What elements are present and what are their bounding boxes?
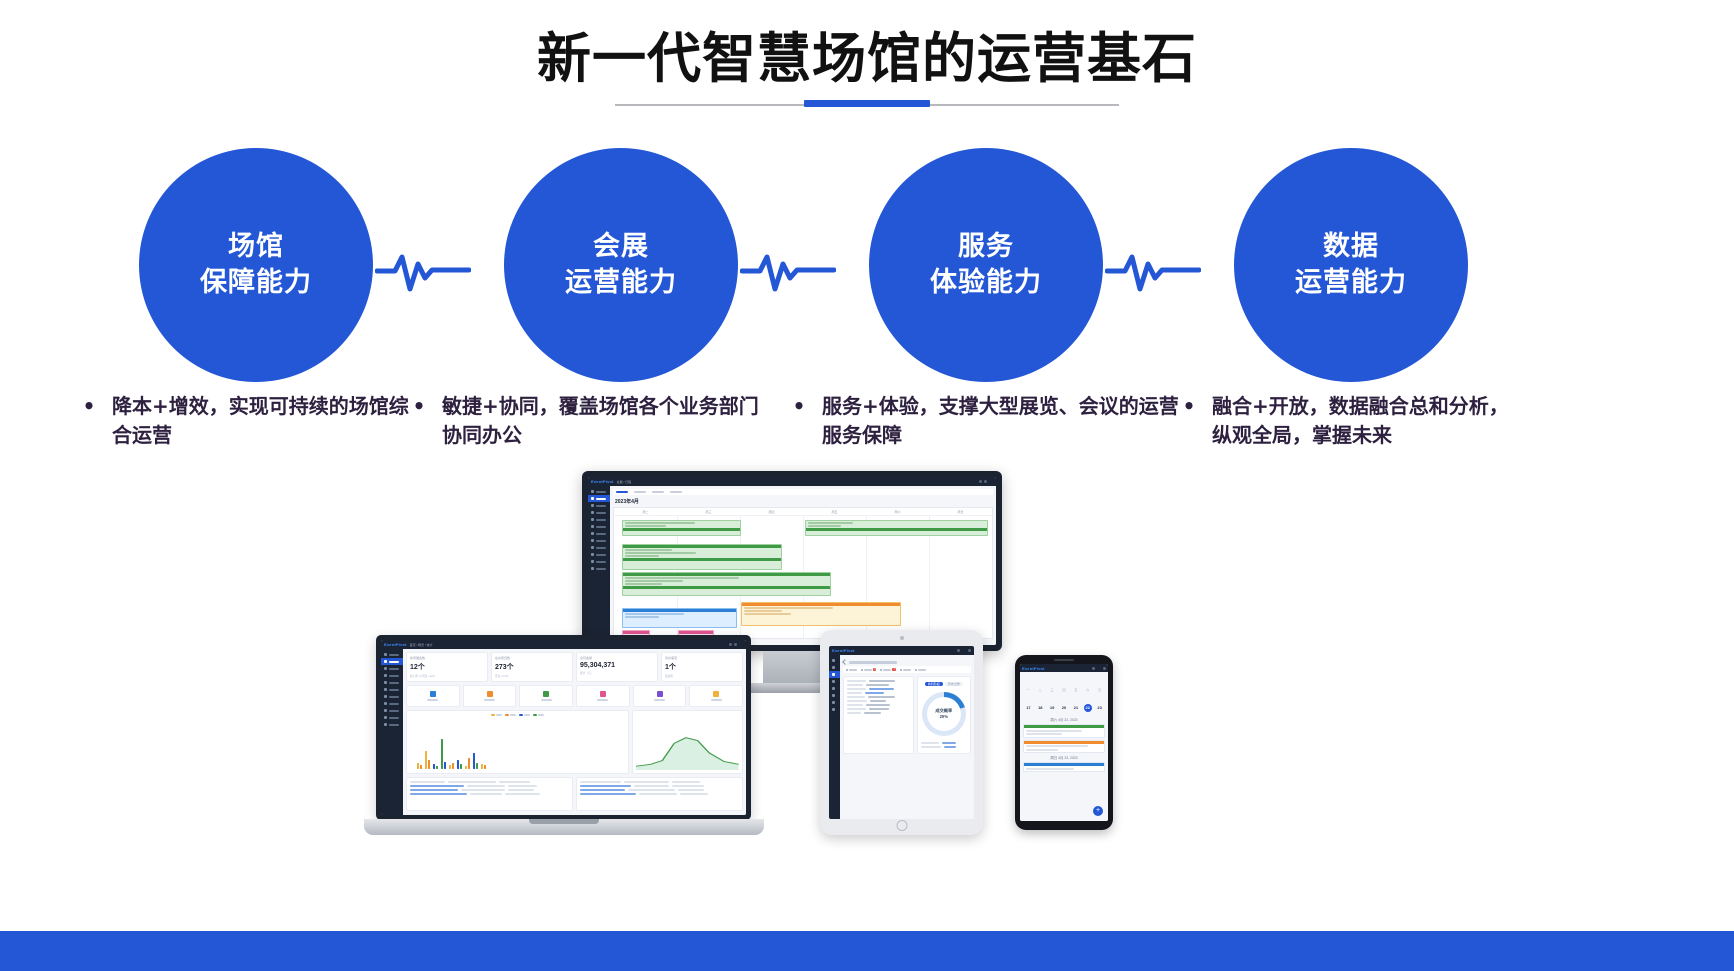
calendar-tabs [613,489,993,495]
weekday-cell: 周三 [677,508,740,515]
search-icon[interactable] [729,643,732,646]
sidebar-label [389,689,399,691]
add-event-fab[interactable]: + [1093,806,1103,816]
doc-icon [384,681,387,684]
calendar-event[interactable] [741,602,902,626]
calendar-event[interactable] [622,608,737,628]
laptop-screen: EventPivot 首页 / 概览 / 统计 [381,640,746,815]
sidebar-label [596,547,606,549]
laptop-bezel: EventPivot 首页 / 概览 / 统计 [376,635,751,820]
sidebar-label [389,724,399,726]
sidebar-item-system[interactable] [588,565,610,572]
sidebar-item-finance[interactable] [381,693,403,700]
bar-chart-bars [417,733,624,769]
back-chevron-icon[interactable] [842,659,848,665]
quick-tile-venues[interactable] [576,685,630,707]
monitor-app-topbar: EventPivot 会展 / 日程 [588,477,996,486]
kpi-sub: 较上周 +3 同比 +12% [410,674,484,678]
kpi-card[interactable]: 合同金额 95,304,371 累计（元） [576,652,658,682]
doc-icon [543,691,549,697]
weekday-cell: 周五 [803,508,866,515]
week-day-cell[interactable]: 二 18 [1035,678,1046,714]
sidebar-label [596,554,606,556]
list-card-row [406,777,743,811]
weekday-cell: 周日 [929,508,992,515]
doc-icon [591,525,594,528]
bullet-marker-icon: • [790,392,808,421]
bullet-item-4: • 融合+开放，数据融合总和分析，纵观全局，掌握未来 [1180,392,1510,450]
sidebar-item-workspace[interactable] [588,488,610,495]
laptop-trackpad-notch [529,819,599,824]
kpi-card[interactable]: 在办项目数 273个 环比 +1.2% [491,652,573,682]
tile-label [541,699,552,701]
sidebar-item-contracts[interactable] [381,679,403,686]
grid-icon [591,490,594,493]
kpi-label: 在办项目数 [495,656,569,660]
sidebar-label [596,568,606,570]
app-logo: EventPivot [1022,666,1045,671]
home-button-icon[interactable] [896,820,907,831]
money-icon [384,695,387,698]
legend-item [533,714,544,716]
weekday-label: 六 [1086,688,1089,692]
legend-item [491,714,502,716]
footer-bar [0,931,1734,971]
weekday-number: 17 [1026,705,1030,710]
sidebar-item-system[interactable] [829,706,840,713]
grid-icon [384,653,387,656]
contact-icon [591,518,594,521]
weekday-label: 日 [1098,688,1101,692]
tab-contracts[interactable] [900,668,911,671]
sidebar-item-schedule[interactable] [588,495,610,502]
capability-circle-1[interactable]: 场馆 保障能力 [139,148,373,382]
weekday-number: 23 [1097,705,1101,710]
kpi-value: 1个 [665,662,739,672]
chart-icon [832,694,835,697]
tablet-info-panel [843,676,914,754]
calendar-event[interactable] [622,544,783,570]
gear-icon [832,701,835,704]
pulse-connector-3-icon [1105,244,1201,296]
sidebar-label [596,505,606,507]
event-icon [430,691,436,697]
bell-icon[interactable] [734,643,737,646]
phone-week-strip: 一 17 二 18 三 19 四 20 [1023,678,1105,714]
capability-circles: 场馆 保障能力 会展 运营能力 服务 体验能力 数据 运营能力 [0,148,1734,382]
probability-value: 20% [940,714,948,720]
quick-action-tiles [406,685,743,707]
sidebar-label [389,675,399,677]
bullet-item-1-text: 降本+增效，实现可持续的场馆综合运营 [112,392,410,450]
monitor-topbar-actions [979,480,993,483]
building-icon [384,688,387,691]
laptop-sidebar [381,649,403,815]
weekday-number: 19 [1050,705,1054,710]
building-icon [600,691,606,697]
kpi-value: 95,304,371 [580,662,654,669]
tab-attachments[interactable] [915,668,926,671]
segment-stage[interactable]: 商机阶段 [925,682,943,686]
capability-circle-1-line2: 保障能力 [200,265,312,301]
phone-event-item[interactable] [1023,740,1105,754]
tablet-screen: EventPivot [829,646,974,819]
sidebar-label [389,696,399,698]
bullet-marker-icon: • [410,392,428,421]
tablet-mockup: EventPivot [820,630,983,835]
sidebar-label [389,717,399,719]
sidebar-item-reports[interactable] [381,700,403,707]
sidebar-label [596,512,606,514]
tab-opportunity[interactable]: 1 [880,668,895,671]
sidebar-item-customers[interactable] [381,672,403,679]
weekday-label: 一 [1027,688,1030,692]
search-icon[interactable] [979,480,982,483]
tablet-app-topbar: EventPivot [829,646,974,655]
building-icon [832,687,835,690]
money-icon [591,546,594,549]
calendar-event[interactable] [805,520,988,536]
sidebar-item-settings[interactable] [829,699,840,706]
sidebar-item-marketing[interactable] [381,707,403,714]
phone-topbar-actions [1092,667,1106,670]
chart-legend [410,714,625,716]
building-icon [591,532,594,535]
quick-tile-contracts[interactable] [519,685,573,707]
megaphone-icon [591,553,594,556]
quick-tile-customers[interactable] [463,685,517,707]
monitor-app-body: 2023年4月 周二 周三 周四 周五 周六 周日 [588,486,996,645]
kpi-card[interactable]: 待办事项 1个 需处理 [661,652,743,682]
phone-main: 一 17 二 18 三 19 四 20 [1020,672,1108,821]
tile-label [654,699,665,701]
kpi-sub: 环比 +1.2% [495,674,569,678]
money-icon [657,691,663,697]
kpi-value: 12个 [410,662,484,672]
tablet-page-title [849,661,897,664]
sidebar-item-settings[interactable] [381,714,403,721]
bullet-item-3: • 服务+体验，支撑大型展览、会议的运营服务保障 [790,392,1180,450]
phone-screen: EventPivot 一 17 二 [1020,664,1108,821]
monitor-bezel: EventPivot 会展 / 日程 [582,471,1002,651]
tablet-segment-buttons: 商机阶段 历史记录 [925,682,963,686]
sidebar-label [389,703,399,705]
tile-label [484,699,495,701]
weekday-label: 五 [1074,688,1077,692]
gear-icon [591,560,594,563]
monitor-main: 2023年4月 周二 周三 周四 周五 周六 周日 [610,486,996,645]
kpi-sub: 需处理 [665,674,739,678]
tablet-tab-bar: 3 1 [843,666,971,673]
slide-root: 新一代智慧场馆的运营基石 场馆 保障能力 会展 运营能力 服务 体验能力 数据 … [0,0,1734,971]
sidebar-item-contacts[interactable] [588,516,610,523]
tile-label [427,699,438,701]
system-icon [591,567,594,570]
weekday-cell: 周四 [740,508,803,515]
chart-panel-row [406,710,743,774]
calendar-icon [591,497,594,500]
quick-tile-events[interactable] [406,685,460,707]
bullet-list: • 降本+增效，实现可持续的场馆综合运营 • 敏捷+协同，覆盖场馆各个业务部门协… [0,392,1734,472]
app-logo: EventPivot [832,648,855,653]
sidebar-item-settings[interactable] [588,558,610,565]
capability-circle-2[interactable]: 会展 运营能力 [504,148,738,382]
search-icon[interactable] [957,649,960,652]
phone-date-label-1: 周六 4月 22, 2023 [1023,717,1105,722]
tile-label [597,699,608,701]
week-day-cell[interactable]: 三 19 [1047,678,1058,714]
tablet-page-header [843,658,971,666]
sidebar-item-workspace[interactable] [381,651,403,658]
capability-circle-3-line2: 体验能力 [930,265,1042,301]
speaker-icon [1054,659,1074,661]
sidebar-label [596,533,606,535]
week-day-cell[interactable]: 日 23 [1094,678,1105,714]
laptop-app-topbar: EventPivot 首页 / 概览 / 统计 [381,640,746,649]
segment-history[interactable]: 历史记录 [945,682,963,686]
device-mockups: EventPivot 会展 / 日程 [350,465,1150,860]
bullet-item-1: • 降本+增效，实现可持续的场馆综合运营 [80,392,410,450]
capability-circle-4[interactable]: 数据 运营能力 [1234,148,1468,382]
bell-icon[interactable] [984,480,987,483]
app-logo: EventPivot [591,479,614,484]
sidebar-label [596,498,606,500]
sidebar-item-contracts[interactable] [588,523,610,530]
sidebar-item-reports[interactable] [588,537,610,544]
monitor-sidebar [588,486,610,645]
quick-tile-finance[interactable] [633,685,687,707]
sidebar-label [596,519,606,521]
kpi-label: 待办事项 [665,656,739,660]
list-card[interactable] [406,777,573,811]
line-chart-svg [636,732,739,770]
line-chart-panel [632,710,743,774]
tab-detail[interactable] [846,668,857,671]
sidebar-item-events[interactable] [829,664,840,671]
chart-icon [384,702,387,705]
phone-mockup: EventPivot 一 17 二 [1015,655,1113,830]
laptop-mockup: EventPivot 首页 / 概览 / 统计 [364,635,764,847]
sidebar-label [596,561,606,563]
weekday-number: 20 [1062,705,1066,710]
donut-center-label: 成交概率 20% [927,697,961,731]
sidebar-item-customers[interactable] [829,671,840,678]
event-icon [832,666,835,669]
sidebar-item-marketing[interactable] [588,551,610,558]
kpi-label: 新增展会数 [410,656,484,660]
sidebar-item-system[interactable] [381,721,403,728]
app-logo: EventPivot [384,642,407,647]
weekday-label: 三 [1051,688,1054,692]
chart-icon [591,539,594,542]
capability-circle-1-line1: 场馆 [228,229,284,265]
pulse-connector-1-icon [375,244,471,296]
sidebar-item-finance[interactable] [588,544,610,551]
quick-tile-reports[interactable] [689,685,743,707]
sidebar-item-customers[interactable] [588,509,610,516]
sidebar-item-events[interactable] [381,665,403,672]
bullet-item-2: • 敏捷+协同，覆盖场馆各个业务部门协同办公 [410,392,760,450]
weekday-cell: 周六 [866,508,929,515]
week-day-cell[interactable]: 四 20 [1059,678,1070,714]
tab-followups[interactable]: 3 [861,668,876,671]
event-icon [384,667,387,670]
probability-donut-chart: 成交概率 20% [922,692,966,736]
weekday-cell: 周二 [614,508,677,515]
kpi-label: 合同金额 [580,656,654,660]
monitor-screen: EventPivot 会展 / 日程 [588,477,996,645]
capability-circle-2-line2: 运营能力 [565,265,677,301]
user-icon [487,691,493,697]
tablet-topbar-actions [957,649,971,652]
weekday-label: 二 [1039,688,1042,692]
tab-resource-booking[interactable] [634,491,646,493]
doc-icon [832,680,835,683]
tablet-sidebar [829,655,840,819]
tablet-app-body: 3 1 [829,655,974,819]
sidebar-item-contracts[interactable] [829,678,840,685]
sidebar-item-events[interactable] [588,502,610,509]
chart-icon [713,691,719,697]
user-icon [832,673,835,676]
bullet-marker-icon: • [1180,392,1198,421]
sidebar-label [389,710,399,712]
laptop-main: 新增展会数 12个 较上周 +3 同比 +12% 在办项目数 273个 环比 +… [403,649,746,815]
tablet-content: 商机阶段 历史记录 成交概率 20% [843,676,971,754]
title-divider-accent [804,100,930,107]
sidebar-item-reports[interactable] [829,692,840,699]
sidebar-item-venues[interactable] [381,686,403,693]
tile-label [711,699,722,701]
weekday-number: 18 [1038,705,1042,710]
laptop-app-body: 新增展会数 12个 较上周 +3 同比 +12% 在办项目数 273个 环比 +… [381,649,746,815]
kpi-card-row: 新增展会数 12个 较上周 +3 同比 +12% 在办项目数 273个 环比 +… [406,652,743,682]
calendar-title: 2023年4月 [615,498,993,505]
user-avatar[interactable] [1103,667,1106,670]
bullet-item-3-text: 服务+体验，支撑大型展览、会议的运营服务保障 [822,392,1180,450]
sidebar-label [389,661,399,663]
capability-circle-2-line1: 会展 [593,229,649,265]
bullet-item-4-text: 融合+开放，数据融合总和分析，纵观全局，掌握未来 [1212,392,1510,450]
dashboard-icon [384,660,387,663]
phone-app-topbar: EventPivot [1020,664,1108,672]
user-avatar[interactable] [968,649,971,652]
search-icon[interactable] [1092,667,1095,670]
pulse-connector-2-icon [740,244,836,296]
calendar-event[interactable] [622,572,832,596]
tab-itinerary[interactable] [670,491,682,493]
user-icon [384,674,387,677]
sidebar-label [596,526,606,528]
sidebar-label [596,491,606,493]
legend-item [505,714,516,716]
camera-icon [900,636,904,640]
gear-icon [384,716,387,719]
kpi-card[interactable]: 新增展会数 12个 较上周 +3 同比 +12% [406,652,488,682]
tab-schedule[interactable] [616,491,628,493]
weekday-number: 22 [1084,704,1092,712]
megaphone-icon [384,709,387,712]
sidebar-label [596,540,606,542]
sidebar-item-venues[interactable] [829,685,840,692]
capability-circle-3[interactable]: 服务 体验能力 [869,148,1103,382]
page-title: 新一代智慧场馆的运营基石 [0,14,1734,93]
tablet-probability-panel: 商机阶段 历史记录 成交概率 20% [917,676,971,754]
week-day-cell[interactable]: 一 17 [1023,678,1034,714]
sidebar-item-overview[interactable] [381,658,403,665]
bar-chart-panel [406,710,629,774]
sidebar-label [389,682,399,684]
sidebar-label [389,654,399,656]
sidebar-label [389,668,399,670]
system-icon [384,723,387,726]
bullet-item-2-text: 敏捷+协同，覆盖场馆各个业务部门协同办公 [442,392,760,450]
phone-event-item[interactable] [1023,724,1105,738]
week-day-cell[interactable]: 五 21 [1070,678,1081,714]
event-icon [591,504,594,507]
week-day-cell-selected[interactable]: 六 22 [1082,678,1093,714]
laptop-breadcrumb: 首页 / 概览 / 统计 [410,643,433,647]
legend-item [519,714,530,716]
calendar-grid: 周二 周三 周四 周五 周六 周日 [613,507,993,639]
monitor-stand-neck [763,651,821,685]
sidebar-item-venues[interactable] [588,530,610,537]
weekday-label: 四 [1063,688,1066,692]
monitor-breadcrumb: 会展 / 日程 [617,480,632,484]
user-icon [591,511,594,514]
tablet-main: 3 1 [840,655,974,819]
laptop-topbar-actions [729,643,743,646]
kpi-sub: 累计（元） [580,671,654,675]
bullet-marker-icon: • [80,392,98,421]
capability-circle-3-line1: 服务 [958,229,1014,265]
calendar-event[interactable] [622,520,741,536]
sidebar-item-home[interactable] [829,657,840,664]
system-icon [832,708,835,711]
kpi-value: 273个 [495,662,569,672]
home-icon [832,659,835,662]
capability-circle-4-line2: 运营能力 [1295,265,1407,301]
tab-booth[interactable] [652,491,664,493]
phone-date-label-2: 周日 4月 23, 2023 [1023,755,1105,760]
capability-circle-4-line1: 数据 [1323,229,1379,265]
phone-event-item[interactable] [1023,762,1105,772]
list-card[interactable] [576,777,743,811]
weekday-number: 21 [1074,705,1078,710]
